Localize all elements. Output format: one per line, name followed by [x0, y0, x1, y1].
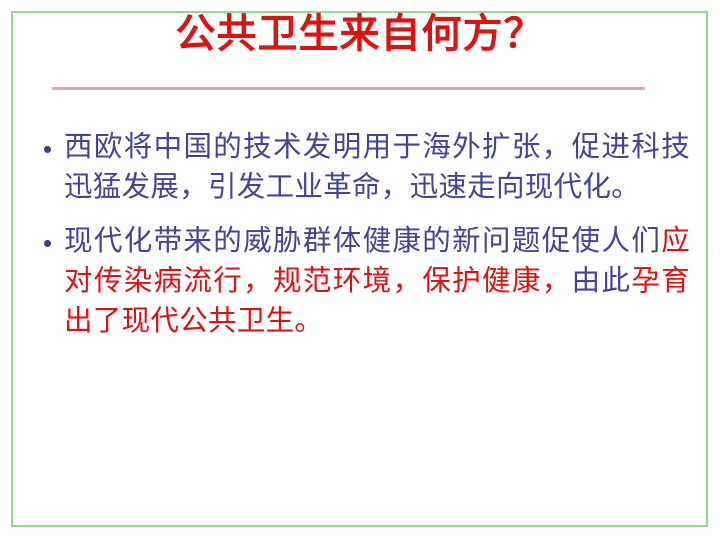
list-item: 现代化带来的威胁群体健康的新问题促使人们应对传染病流行，规范环境，保护健康，由此… [30, 222, 690, 342]
page-title: 公共卫生来自何方？ [40, 12, 680, 56]
body-content: 西欧将中国的技术发明用于海外扩张，促进科技迅猛发展，引发工业革命，迅速走向现代化… [30, 128, 690, 356]
bullet-text-2: 现代化带来的威胁群体健康的新问题促使人们应对传染病流行，规范环境，保护健康，由此… [64, 222, 690, 342]
bullet-text-1: 西欧将中国的技术发明用于海外扩张，促进科技迅猛发展，引发工业革命，迅速走向现代化… [64, 128, 690, 208]
bullet-2-segment-1: 现代化带来的威胁群体健康的新问题促使人们 [64, 226, 661, 257]
title-area: 公共卫生来自何方？ [40, 12, 680, 56]
bullet-2-segment-3: 由此 [572, 266, 632, 297]
slide: 公共卫生来自何方？ 西欧将中国的技术发明用于海外扩张，促进科技迅猛发展，引发工业… [0, 0, 720, 540]
bullet-dot-icon [30, 128, 64, 158]
bullet-1-segment-1: 西欧将中国的技术发明用于海外扩张，促进科技迅猛发展，引发工业革命，迅速走向现代化… [64, 132, 690, 203]
title-divider [52, 87, 645, 90]
list-item: 西欧将中国的技术发明用于海外扩张，促进科技迅猛发展，引发工业革命，迅速走向现代化… [30, 128, 690, 208]
bullet-dot-icon [30, 222, 64, 252]
